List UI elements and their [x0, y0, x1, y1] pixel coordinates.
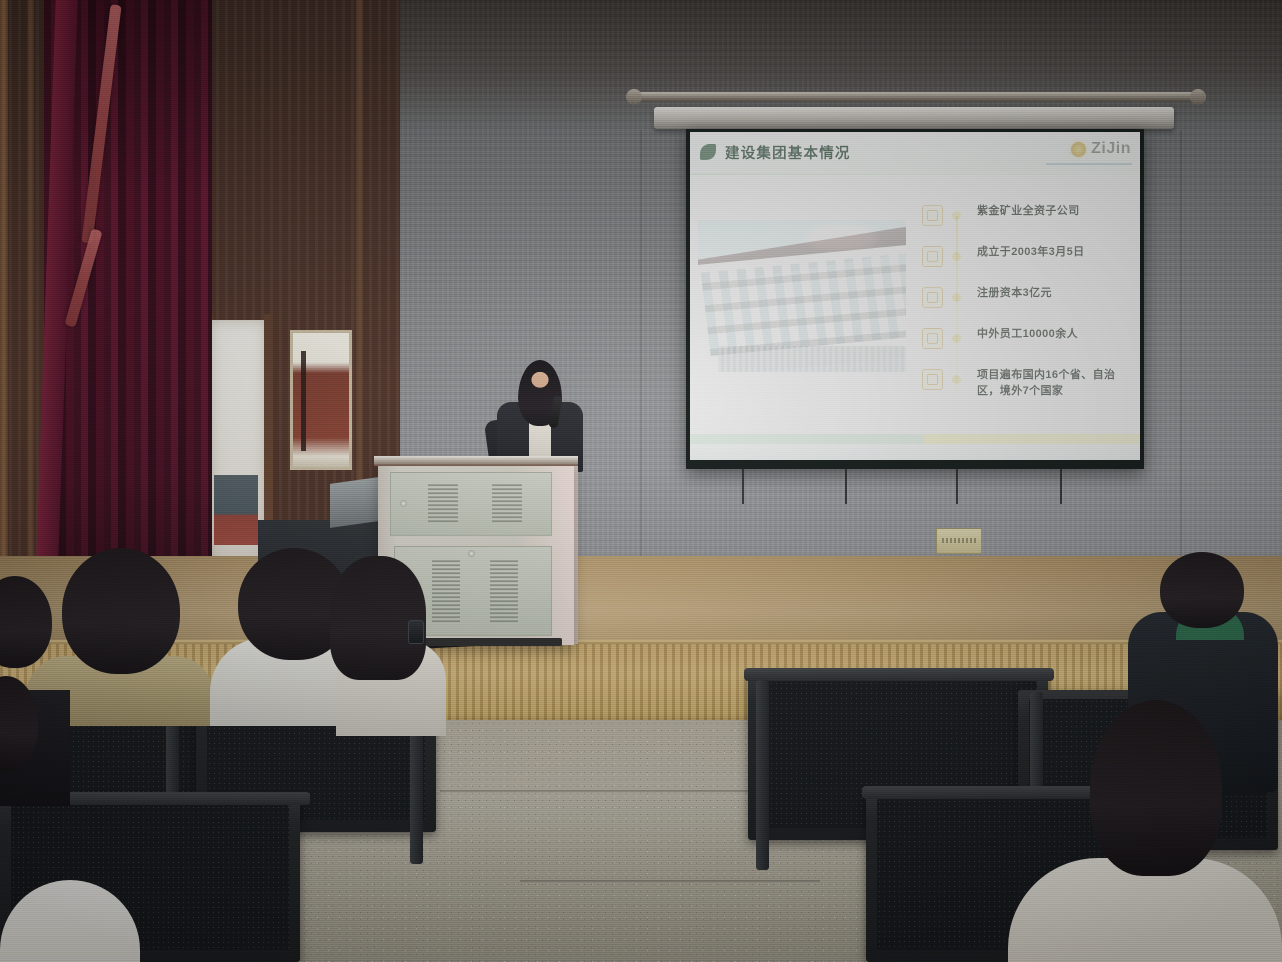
green-leaf-icon [700, 144, 716, 160]
bullet-text: 成立于2003年3月5日 [977, 245, 1085, 261]
bullet-dot [952, 211, 961, 220]
auditorium-scene: 建设集团基本情况 ZiJin [0, 0, 1282, 962]
rod-cap-left [626, 89, 642, 105]
lectern-upper-vent [428, 482, 458, 522]
wall-plaque [936, 528, 982, 554]
building-base-railing [718, 346, 906, 372]
slide-footer-band [690, 434, 1140, 444]
screen-surface: 建设集团基本情况 ZiJin [690, 132, 1140, 460]
bullet-dot [952, 293, 961, 302]
bullet-dot [952, 334, 961, 343]
seat-rail [744, 668, 1054, 681]
slide-divider [690, 173, 1140, 175]
interior-window [290, 330, 352, 470]
list-item: 成立于2003年3月5日 [922, 245, 1130, 271]
money-icon [922, 287, 943, 308]
building-windows [701, 252, 906, 356]
bullet-text: 注册资本3亿元 [977, 286, 1052, 302]
lectern-upper-vent [492, 482, 522, 522]
projector-screen-housing [654, 107, 1174, 129]
zijin-wordmark: ZiJin [1091, 140, 1131, 158]
smartphone[interactable] [408, 620, 424, 644]
target-icon [922, 205, 943, 226]
bullet-text: 项目遍布国内16个省、自治区，境外7个国家 [977, 368, 1130, 400]
list-item: 注册资本3亿元 [922, 286, 1130, 312]
screen-hanging-cord [845, 468, 847, 504]
rod-cap-right [1190, 89, 1206, 105]
bullet-dot [952, 252, 961, 261]
zijin-sun-icon [1071, 142, 1086, 157]
projection-screen: 建设集团基本情况 ZiJin [686, 129, 1144, 469]
globe-icon [922, 369, 943, 390]
list-item: 项目遍布国内16个省、自治区，境外7个国家 [922, 368, 1130, 400]
curtain-rod [630, 92, 1205, 102]
zijin-brand: ZiJin [1071, 140, 1131, 158]
bullet-text: 中外员工10000余人 [977, 327, 1078, 343]
list-item: 紫金矿业全资子公司 [922, 204, 1130, 230]
seat-leg [756, 680, 769, 870]
screen-hanging-cord [742, 468, 744, 504]
wall-seam [640, 130, 642, 630]
student-head [1160, 552, 1244, 628]
screen-hanging-cord [1060, 468, 1062, 504]
slide-bullet-list: 紫金矿业全资子公司 成立于2003年3月5日 注册资本3亿元 [922, 204, 1130, 420]
slide-footer-base [690, 444, 1140, 460]
slide-title: 建设集团基本情况 [725, 142, 851, 163]
lectern-upper-door [390, 472, 552, 536]
calendar-icon [922, 246, 943, 267]
lectern-upper-lock [400, 500, 407, 507]
slide-building-photo [698, 220, 906, 372]
lectern-lower-vent [490, 560, 518, 622]
screen-hanging-cord [956, 468, 958, 504]
lectern-lower-lock [468, 550, 475, 557]
lectern-lower-vent [432, 560, 460, 622]
lectern-top [374, 456, 578, 466]
chair-beyond-door [214, 475, 258, 545]
bullet-dot [952, 375, 961, 384]
wall-seam [1180, 130, 1182, 630]
student-head [330, 556, 426, 680]
student-head [1090, 700, 1222, 876]
floor-seam [520, 880, 820, 882]
list-item: 中外员工10000余人 [922, 327, 1130, 353]
student-head [62, 548, 180, 674]
people-icon [922, 328, 943, 349]
bullet-text: 紫金矿业全资子公司 [977, 204, 1080, 220]
presentation-slide: 建设集团基本情况 ZiJin [690, 132, 1140, 460]
stage-platform [0, 556, 1282, 652]
header-rule [1046, 163, 1132, 165]
